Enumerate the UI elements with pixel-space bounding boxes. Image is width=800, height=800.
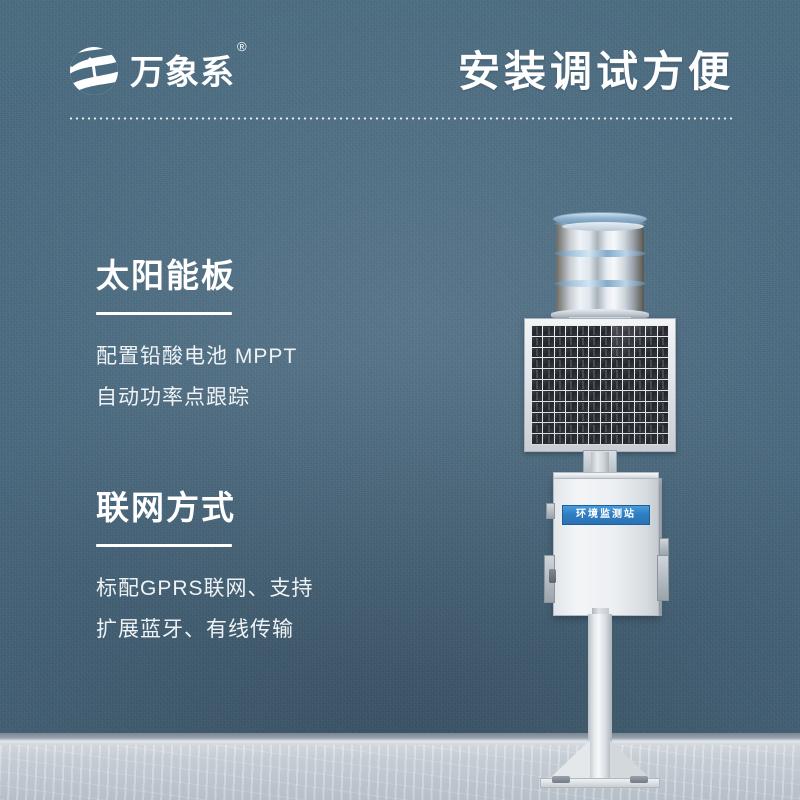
solar-cell: [566, 380, 576, 390]
solar-cell: [635, 358, 645, 368]
solar-cell: [543, 402, 553, 412]
solar-cell: [612, 326, 622, 336]
enclosure-connector: [549, 569, 556, 583]
solar-cell: [578, 434, 588, 444]
solar-cell: [623, 423, 633, 433]
solar-cell: [601, 358, 611, 368]
solar-cell: [658, 380, 668, 390]
solar-cell: [658, 358, 668, 368]
solar-cell: [623, 358, 633, 368]
solar-cell: [658, 413, 668, 423]
solar-cell: [635, 413, 645, 423]
sensor-band: [554, 250, 646, 257]
solar-cell: [532, 413, 542, 423]
solar-cell: [635, 326, 645, 336]
solar-cell: [578, 348, 588, 358]
solar-cell: [578, 358, 588, 368]
solar-cell: [578, 380, 588, 390]
base-anchor-bolt: [630, 776, 648, 783]
solar-cell: [589, 402, 599, 412]
solar-cell: [601, 402, 611, 412]
solar-cell: [543, 413, 553, 423]
solar-cell: [635, 369, 645, 379]
solar-cell: [555, 434, 565, 444]
solar-cell: [555, 326, 565, 336]
solar-cell: [589, 380, 599, 390]
solar-cell: [635, 380, 645, 390]
solar-cell: [589, 358, 599, 368]
solar-cell: [601, 423, 611, 433]
solar-cell: [532, 369, 542, 379]
solar-cell: [623, 369, 633, 379]
solar-cell: [578, 369, 588, 379]
sensor-top-inner: [562, 222, 644, 231]
solar-cell: [589, 348, 599, 358]
enclosure-mount-tab: [546, 503, 555, 519]
solar-cell: [635, 402, 645, 412]
solar-cell: [635, 391, 645, 401]
solar-cell: [612, 434, 622, 444]
controller-enclosure: [553, 478, 659, 616]
solar-cell: [601, 391, 611, 401]
device-name-text: 环境监测站: [576, 510, 636, 520]
solar-cell: [612, 380, 622, 390]
solar-cell: [532, 348, 542, 358]
promo-page: 万象系® 安装调试方便 太阳能板 配置铅酸电池 MPPT 自动功率点跟踪 联网方…: [0, 0, 800, 800]
solar-cell: [646, 358, 656, 368]
solar-cell: [601, 413, 611, 423]
solar-cell: [612, 423, 622, 433]
solar-cell: [543, 326, 553, 336]
mounting-pole: [588, 614, 612, 780]
solar-cell: [623, 434, 633, 444]
solar-cell: [623, 326, 633, 336]
solar-cell: [566, 391, 576, 401]
solar-cell: [658, 434, 668, 444]
solar-cell: [566, 423, 576, 433]
solar-cell: [623, 337, 633, 347]
solar-cell: [555, 348, 565, 358]
solar-cell: [589, 369, 599, 379]
solar-cell: [543, 423, 553, 433]
base-gusset-right: [610, 740, 652, 780]
sensor-cylinder: [556, 216, 644, 316]
solar-cell: [612, 369, 622, 379]
solar-cell: [566, 434, 576, 444]
solar-cell: [566, 348, 576, 358]
solar-cell: [658, 423, 668, 433]
solar-cell: [532, 380, 542, 390]
device-name-label: 环境监测站: [562, 505, 650, 525]
solar-cell: [589, 413, 599, 423]
solar-cell: [589, 434, 599, 444]
solar-cell: [646, 348, 656, 358]
solar-cell: [623, 413, 633, 423]
solar-cell: [532, 391, 542, 401]
solar-cell: [566, 337, 576, 347]
solar-cell: [543, 434, 553, 444]
solar-cell: [555, 402, 565, 412]
solar-cell: [578, 413, 588, 423]
solar-cell: [566, 369, 576, 379]
solar-cell: [578, 337, 588, 347]
solar-cell: [555, 391, 565, 401]
base-gusset-left: [548, 740, 590, 780]
solar-cell: [658, 369, 668, 379]
solar-cell: [612, 413, 622, 423]
solar-cell: [623, 402, 633, 412]
solar-cell: [543, 337, 553, 347]
solar-cell: [612, 348, 622, 358]
solar-cell: [658, 337, 668, 347]
sensor-band: [554, 280, 646, 287]
solar-cell: [532, 402, 542, 412]
solar-cell-grid: [531, 325, 669, 445]
solar-cell: [555, 369, 565, 379]
solar-cell: [555, 423, 565, 433]
solar-cell: [635, 423, 645, 433]
solar-cell: [532, 326, 542, 336]
solar-cell: [646, 391, 656, 401]
solar-cell: [623, 348, 633, 358]
solar-cell: [578, 326, 588, 336]
solar-cell: [612, 391, 622, 401]
solar-cell: [601, 369, 611, 379]
solar-cell: [601, 326, 611, 336]
solar-cell: [589, 326, 599, 336]
solar-cell: [543, 369, 553, 379]
solar-cell: [566, 413, 576, 423]
solar-cell: [532, 423, 542, 433]
solar-cell: [658, 402, 668, 412]
solar-panel: [524, 318, 676, 452]
solar-cell: [566, 402, 576, 412]
solar-cell: [646, 326, 656, 336]
solar-cell: [589, 391, 599, 401]
solar-cell: [646, 369, 656, 379]
solar-cell: [532, 358, 542, 368]
solar-cell: [612, 402, 622, 412]
solar-cell: [635, 434, 645, 444]
solar-cell: [635, 348, 645, 358]
solar-cell: [601, 337, 611, 347]
solar-cell: [578, 391, 588, 401]
solar-cell: [646, 337, 656, 347]
product-image: 环境监测站: [0, 0, 800, 800]
solar-cell: [532, 337, 542, 347]
rain-gauge-sensor: [551, 206, 649, 326]
solar-cell: [532, 434, 542, 444]
enclosure-mount-tab: [657, 555, 669, 601]
solar-cell: [612, 358, 622, 368]
solar-cell: [543, 380, 553, 390]
solar-cell: [623, 380, 633, 390]
solar-cell: [612, 337, 622, 347]
solar-cell: [543, 391, 553, 401]
solar-cell: [601, 434, 611, 444]
solar-cell: [646, 423, 656, 433]
solar-cell: [555, 358, 565, 368]
solar-cell: [543, 348, 553, 358]
solar-cell: [623, 391, 633, 401]
solar-cell: [555, 380, 565, 390]
solar-cell: [658, 348, 668, 358]
solar-cell: [555, 337, 565, 347]
solar-cell: [601, 380, 611, 390]
solar-cell: [646, 413, 656, 423]
solar-cell: [555, 413, 565, 423]
sensor-top-rim: [553, 212, 647, 226]
solar-cell: [589, 423, 599, 433]
solar-cell: [658, 391, 668, 401]
solar-cell: [589, 337, 599, 347]
solar-cell: [601, 348, 611, 358]
solar-cell: [635, 337, 645, 347]
solar-cell: [566, 326, 576, 336]
base-anchor-bolt: [552, 776, 570, 783]
solar-cell: [566, 358, 576, 368]
solar-cell: [646, 380, 656, 390]
solar-cell: [578, 402, 588, 412]
solar-cell: [646, 434, 656, 444]
solar-cell: [578, 423, 588, 433]
solar-cell: [646, 402, 656, 412]
enclosure-mount-tab: [659, 538, 669, 556]
solar-cell: [543, 358, 553, 368]
solar-cell: [658, 326, 668, 336]
